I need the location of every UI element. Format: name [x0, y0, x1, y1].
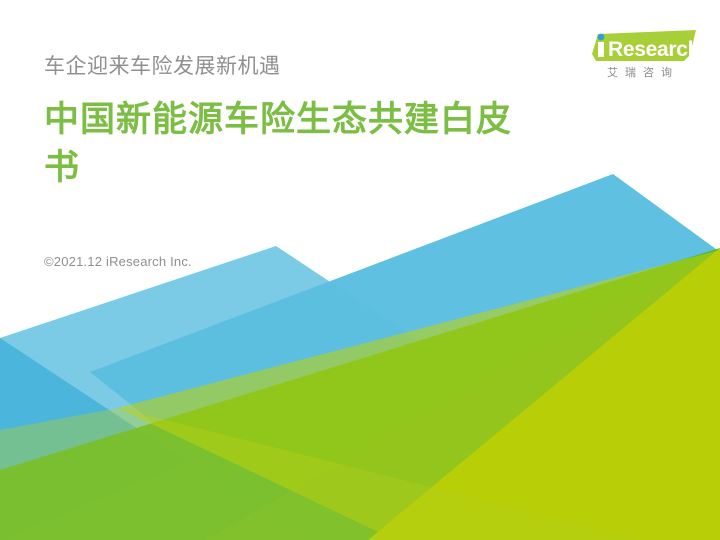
title-block: 车企迎来车险发展新机遇 中国新能源车险生态共建白皮书: [44, 52, 604, 192]
copyright-notice: ©2021.12 iResearch Inc.: [44, 253, 192, 271]
cover-subtitle: 车企迎来车险发展新机遇: [44, 52, 604, 82]
logo-i-stem: [598, 42, 604, 57]
logo-chinese-name: 艾瑞咨询: [580, 66, 696, 81]
cover-title: 中国新能源车险生态共建白皮书: [44, 96, 544, 192]
logo-wordmark: Research: [580, 30, 696, 63]
logo-i-dot: [598, 34, 605, 41]
cover-slide: 车企迎来车险发展新机遇 中国新能源车险生态共建白皮书 ©2021.12 iRes…: [0, 0, 720, 540]
iresearch-logo[interactable]: Research 艾瑞咨询: [580, 30, 696, 86]
logo-research-text: Research: [608, 38, 696, 61]
